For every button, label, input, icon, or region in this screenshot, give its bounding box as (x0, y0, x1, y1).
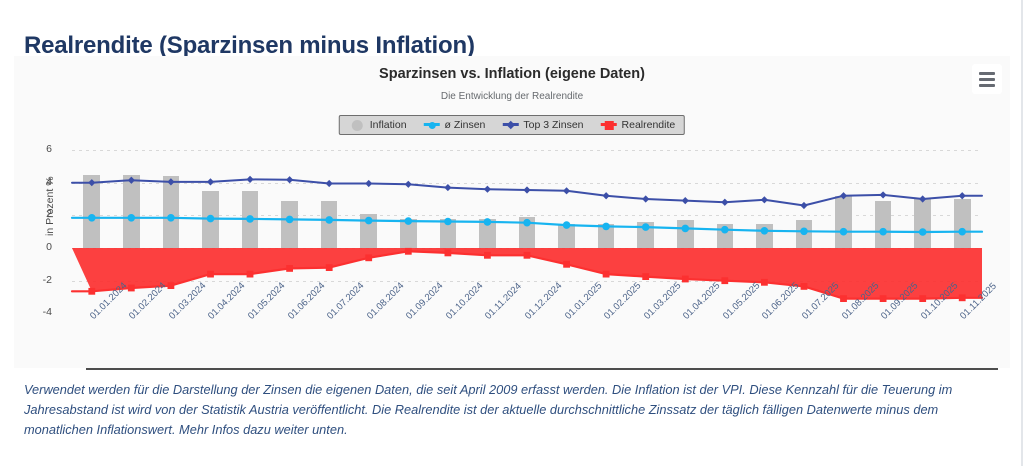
series-point[interactable]: 01.01.2024: 4 (88, 179, 95, 186)
series-point[interactable]: 01.04.2025: 1.2 (682, 225, 690, 233)
series-point[interactable]: 01.05.2025: 1.12 (721, 226, 729, 234)
series-point[interactable]: 01.10.2025: 3 (919, 195, 926, 202)
series-point[interactable]: 01.09.2024: -0.2 (405, 248, 412, 255)
series-point[interactable]: 01.04.2025: 2.9 (682, 197, 689, 204)
series-point[interactable]: 01.06.2024: 1.75 (286, 216, 294, 224)
series-point[interactable]: 01.12.2024: 1.55 (523, 219, 531, 227)
series-point[interactable]: 01.07.2025: 2.6 (800, 202, 807, 209)
series-point[interactable]: 01.09.2025: -3.1 (880, 295, 887, 302)
series-point[interactable]: 01.04.2025: -1.9 (682, 276, 689, 283)
series-point[interactable]: 01.03.2025: 3 (642, 195, 649, 202)
page-root: Realrendite (Sparzinsen minus Inflation)… (0, 0, 1023, 466)
series-point[interactable]: 01.05.2025: -2 (721, 277, 728, 284)
footnote-text: Verwendet werden für die Darstellung der… (24, 380, 1000, 439)
series-point[interactable]: 01.12.2024: 3.55 (523, 186, 530, 193)
series-point[interactable]: 01.05.2024: -1.6 (247, 271, 254, 278)
series-point[interactable]: 01.05.2024: 4.2 (246, 176, 253, 183)
series-point[interactable]: 01.02.2025: -1.6 (603, 271, 610, 278)
series-point[interactable]: 01.01.2025: 1.4 (563, 221, 571, 229)
series-point[interactable]: 01.01.2024: 1.85 (88, 214, 96, 222)
series-point[interactable]: 01.10.2025: 0.98 (919, 228, 927, 236)
series-point[interactable]: 01.11.2025: 1 (958, 228, 966, 236)
series-point[interactable]: 01.05.2024: 1.78 (246, 215, 254, 223)
series-point[interactable]: 01.09.2025: 1 (879, 228, 887, 236)
series-point[interactable]: 01.04.2024: 4.05 (207, 178, 214, 185)
series-point[interactable]: 01.05.2025: 2.8 (721, 199, 728, 206)
series-point[interactable]: 01.11.2025: -3.05 (959, 294, 966, 301)
series-point[interactable]: 01.11.2024: -0.45 (484, 252, 491, 259)
series-point[interactable]: 01.02.2025: 1.32 (602, 223, 610, 231)
series-point[interactable]: 01.09.2024: 3.9 (405, 181, 412, 188)
series-point[interactable]: 01.08.2025: 1 (840, 228, 848, 236)
series-point[interactable]: 01.08.2025: 3.2 (840, 192, 847, 199)
series-point[interactable]: 01.01.2025: -1 (563, 261, 570, 268)
chart-series-overlay: 01.01.2024: -2.6501.02.2024: -2.4501.03.… (14, 56, 1010, 368)
series-point[interactable]: 01.10.2024: -0.3 (445, 250, 452, 257)
series-point[interactable]: 01.04.2024: -1.6 (207, 271, 214, 278)
series-point[interactable]: 01.12.2024: -0.45 (524, 252, 531, 259)
series-point[interactable]: 01.02.2024: 1.85 (128, 214, 136, 222)
series-point[interactable]: 01.08.2024: 1.68 (365, 217, 373, 225)
series-point[interactable]: 01.09.2025: 3.25 (879, 191, 886, 198)
series-point[interactable]: 01.11.2024: 1.6 (484, 218, 492, 226)
series-point[interactable]: 01.11.2025: 3.2 (959, 192, 966, 199)
series-point[interactable]: 01.06.2025: -2.1 (761, 279, 768, 286)
series-point[interactable]: 01.06.2025: 1.05 (761, 227, 769, 235)
series-point[interactable]: 01.08.2025: -3.1 (840, 295, 847, 302)
series-point[interactable]: 01.06.2025: 2.95 (761, 196, 768, 203)
chart-card: Sparzinsen vs. Inflation (eigene Daten) … (14, 56, 1010, 368)
series-point[interactable]: 01.10.2025: -3.1 (919, 295, 926, 302)
series-point[interactable]: 01.03.2025: 1.28 (642, 223, 650, 231)
series-point[interactable]: 01.09.2024: 1.65 (405, 217, 413, 225)
series-point[interactable]: 01.08.2024: 3.95 (365, 180, 372, 187)
series-point[interactable]: 01.07.2024: 1.72 (325, 216, 333, 224)
series-point[interactable]: 01.02.2024: 4.15 (128, 177, 135, 184)
series-point[interactable]: 01.07.2025: -2.35 (801, 283, 808, 290)
series-point[interactable]: 01.08.2024: -0.6 (365, 254, 372, 261)
series-point[interactable]: 01.06.2024: 4.18 (286, 176, 293, 183)
series-point[interactable]: 01.03.2024: 1.85 (167, 214, 175, 222)
series-point[interactable]: 01.07.2024: -1.2 (326, 264, 333, 271)
series-point[interactable]: 01.01.2024: -2.65 (88, 288, 95, 295)
series-point[interactable]: 01.01.2025: 3.5 (563, 187, 570, 194)
series-point[interactable]: 01.04.2024: 1.8 (207, 215, 215, 223)
series-point[interactable]: 01.06.2024: -1.25 (286, 265, 293, 272)
series-point[interactable]: 01.10.2024: 1.62 (444, 218, 452, 226)
series-point[interactable]: 01.07.2025: 1.02 (800, 228, 808, 236)
series-point[interactable]: 01.03.2024: 4.05 (167, 178, 174, 185)
series-point[interactable]: 01.02.2025: 3.2 (603, 192, 610, 199)
series-point[interactable]: 01.07.2024: 3.95 (326, 180, 333, 187)
series-point[interactable]: 01.10.2024: 3.7 (444, 184, 451, 191)
series-point[interactable]: 01.03.2025: -1.75 (642, 273, 649, 280)
x-axis-line (86, 368, 998, 370)
series-point[interactable]: 01.11.2024: 3.6 (484, 186, 491, 193)
